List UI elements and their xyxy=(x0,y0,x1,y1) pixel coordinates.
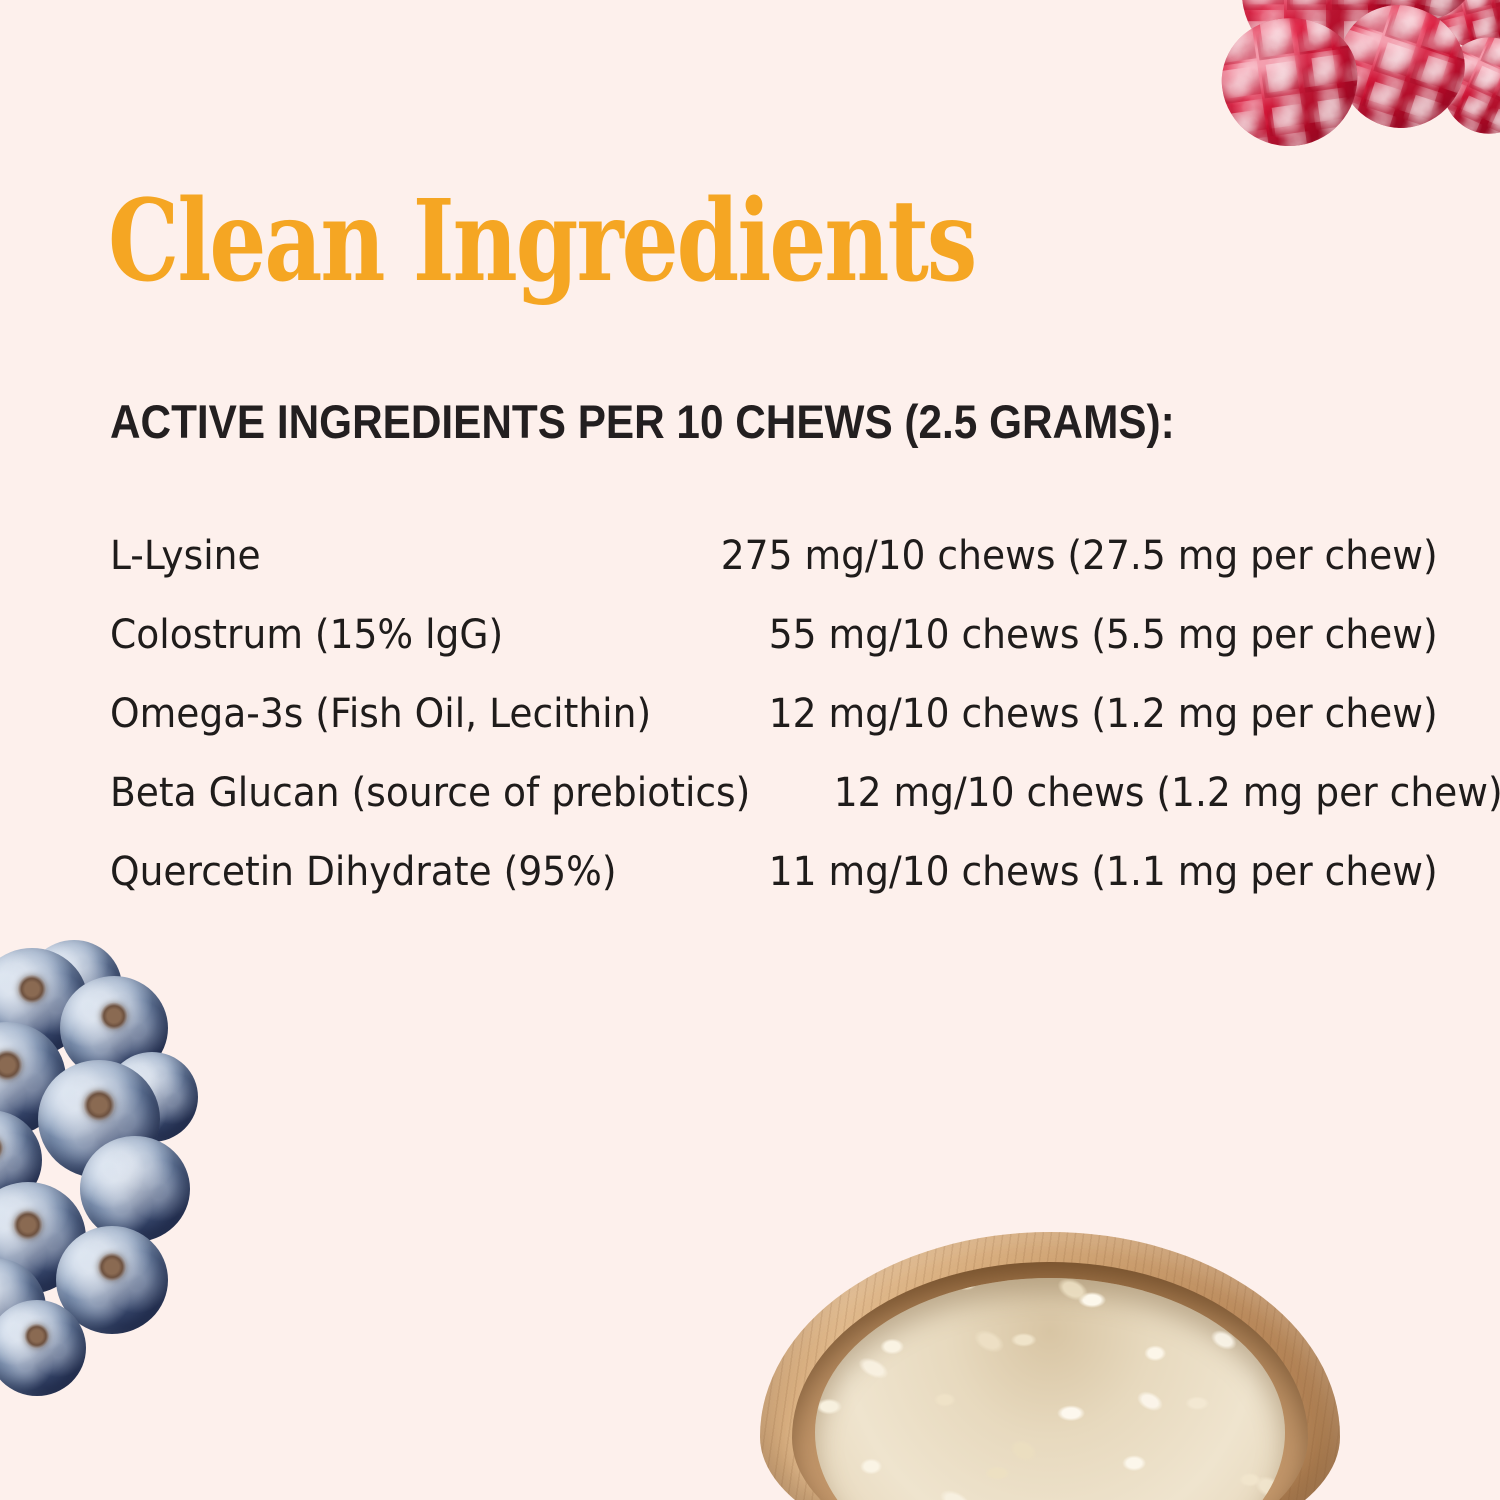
ingredient-name: Beta Glucan (source of prebiotics) xyxy=(110,771,750,815)
raspberries-image xyxy=(1220,0,1500,180)
table-row: Omega-3s (Fish Oil, Lecithin) 12 mg/10 c… xyxy=(110,692,1438,771)
ingredient-name: L-Lysine xyxy=(110,534,261,578)
ingredient-amount: 11 mg/10 chews (1.1 mg per chew) xyxy=(769,850,1438,894)
ingredient-amount: 55 mg/10 chews (5.5 mg per chew) xyxy=(769,613,1438,657)
blueberries-image xyxy=(0,940,190,1340)
ingredient-name: Omega-3s (Fish Oil, Lecithin) xyxy=(110,692,651,736)
blueberry-berry xyxy=(80,1136,190,1242)
ingredient-amount: 12 mg/10 chews (1.2 mg per chew) xyxy=(769,692,1438,736)
ingredients-table: L-Lysine 275 mg/10 chews (27.5 mg per ch… xyxy=(110,534,1438,929)
ingredient-amount: 12 mg/10 chews (1.2 mg per chew) xyxy=(834,771,1500,815)
section-heading: ACTIVE INGREDIENTS PER 10 CHEWS (2.5 GRA… xyxy=(110,398,1175,445)
ingredient-name: Quercetin Dihydrate (95%) xyxy=(110,850,617,894)
ingredient-panel: Clean Ingredients ACTIVE INGREDIENTS PER… xyxy=(0,0,1500,1500)
ingredient-name: Colostrum (15% lgG) xyxy=(110,613,503,657)
table-row: Quercetin Dihydrate (95%) 11 mg/10 chews… xyxy=(110,850,1438,929)
page-title: Clean Ingredients xyxy=(108,186,975,298)
rolled-oats xyxy=(815,1278,1285,1500)
table-row: Beta Glucan (source of prebiotics) 12 mg… xyxy=(110,771,1438,850)
oats-bowl-image xyxy=(760,1232,1340,1500)
table-row: L-Lysine 275 mg/10 chews (27.5 mg per ch… xyxy=(110,534,1438,613)
table-row: Colostrum (15% lgG) 55 mg/10 chews (5.5 … xyxy=(110,613,1438,692)
ingredient-amount: 275 mg/10 chews (27.5 mg per chew) xyxy=(721,534,1438,578)
